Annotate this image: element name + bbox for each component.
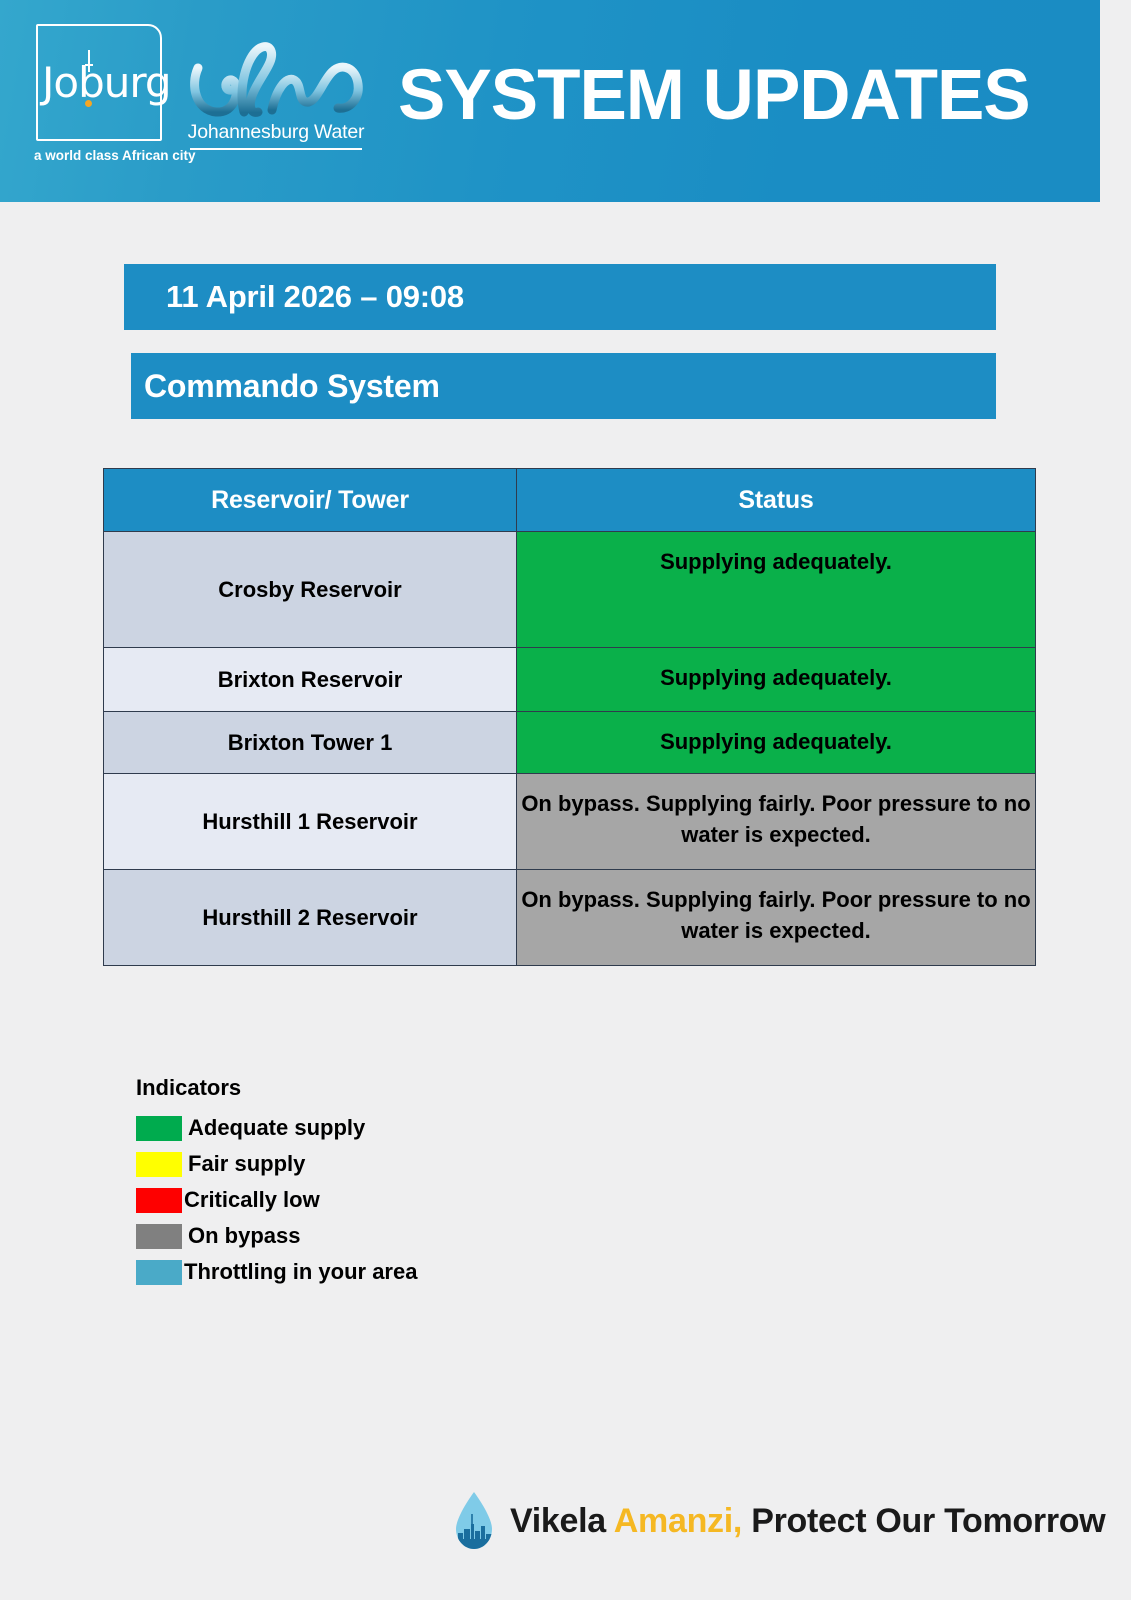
legend-swatch-red xyxy=(136,1188,182,1213)
column-header-reservoir: Reservoir/ Tower xyxy=(104,469,517,532)
column-header-status: Status xyxy=(517,469,1036,532)
cell-reservoir-name: Brixton Tower 1 xyxy=(104,712,517,774)
legend-label: Throttling in your area xyxy=(184,1259,417,1285)
cell-reservoir-name: Hursthill 1 Reservoir xyxy=(104,774,517,870)
water-drop-city-icon xyxy=(450,1490,498,1552)
header-banner: Joburg a world class African city Johann… xyxy=(0,0,1100,202)
legend-swatch-teal xyxy=(136,1260,182,1285)
table-row: Brixton Tower 1 Supplying adequately. xyxy=(104,712,1036,774)
legend-swatch-gray xyxy=(136,1224,182,1249)
johannesburg-water-name: Johannesburg Water xyxy=(186,121,366,144)
cell-status: Supplying adequately. xyxy=(517,532,1036,648)
table-row: Brixton Reservoir Supplying adequately. xyxy=(104,648,1036,712)
cell-reservoir-name: Crosby Reservoir xyxy=(104,532,517,648)
legend-item-on-bypass: On bypass xyxy=(136,1221,556,1251)
footer-part-1: Vikela xyxy=(510,1502,614,1540)
status-table: Reservoir/ Tower Status Crosby Reservoir… xyxy=(103,468,1036,966)
indicators-title: Indicators xyxy=(136,1075,556,1101)
table-row: Hursthill 1 Reservoir On bypass. Supplyi… xyxy=(104,774,1036,870)
johannesburg-water-logo: Johannesburg Water xyxy=(186,38,366,158)
cell-status: Supplying adequately. xyxy=(517,648,1036,712)
table-header-row: Reservoir/ Tower Status xyxy=(104,469,1036,532)
page-title: SYSTEM UPDATES xyxy=(398,55,1030,136)
date-text: 11 April 2026 – 09:08 xyxy=(166,279,464,315)
water-wave-icon xyxy=(186,38,366,123)
cell-reservoir-name: Hursthill 2 Reservoir xyxy=(104,870,517,966)
jw-underline xyxy=(190,148,362,150)
legend-item-critically-low: Critically low xyxy=(136,1185,556,1215)
legend-swatch-green xyxy=(136,1116,182,1141)
joburg-orange-dot-icon xyxy=(85,100,92,107)
cell-status: Supplying adequately. xyxy=(517,712,1036,774)
legend-label: Fair supply xyxy=(188,1151,305,1177)
legend-item-fair-supply: Fair supply xyxy=(136,1149,556,1179)
system-name-bar: Commando System xyxy=(131,353,996,419)
footer-text: Vikela Amanzi, Protect Our Tomorrow xyxy=(510,1502,1105,1541)
footer-part-3: Protect Our Tomorrow xyxy=(742,1502,1105,1540)
date-bar: 11 April 2026 – 09:08 xyxy=(124,264,996,330)
legend-item-throttling: Throttling in your area xyxy=(136,1257,556,1287)
legend-label: Adequate supply xyxy=(188,1115,365,1141)
cell-status: On bypass. Supplying fairly. Poor pressu… xyxy=(517,870,1036,966)
legend-item-adequate-supply: Adequate supply xyxy=(136,1113,556,1143)
legend-label: Critically low xyxy=(184,1187,320,1213)
joburg-wordmark: Joburg xyxy=(42,58,171,107)
cell-reservoir-name: Brixton Reservoir xyxy=(104,648,517,712)
table-row: Hursthill 2 Reservoir On bypass. Supplyi… xyxy=(104,870,1036,966)
joburg-tagline: a world class African city xyxy=(34,148,196,163)
table-body: Crosby Reservoir Supplying adequately. B… xyxy=(104,532,1036,966)
cell-status: On bypass. Supplying fairly. Poor pressu… xyxy=(517,774,1036,870)
joburg-logo: Joburg a world class African city xyxy=(28,22,188,177)
table-row: Crosby Reservoir Supplying adequately. xyxy=(104,532,1036,648)
indicators-legend: Indicators Adequate supply Fair supply C… xyxy=(136,1075,556,1293)
footer-part-amanzi: Amanzi, xyxy=(614,1502,742,1540)
legend-label: On bypass xyxy=(188,1223,300,1249)
system-name-text: Commando System xyxy=(144,368,440,405)
footer-tagline: Vikela Amanzi, Protect Our Tomorrow xyxy=(450,1490,1105,1552)
legend-swatch-yellow xyxy=(136,1152,182,1177)
